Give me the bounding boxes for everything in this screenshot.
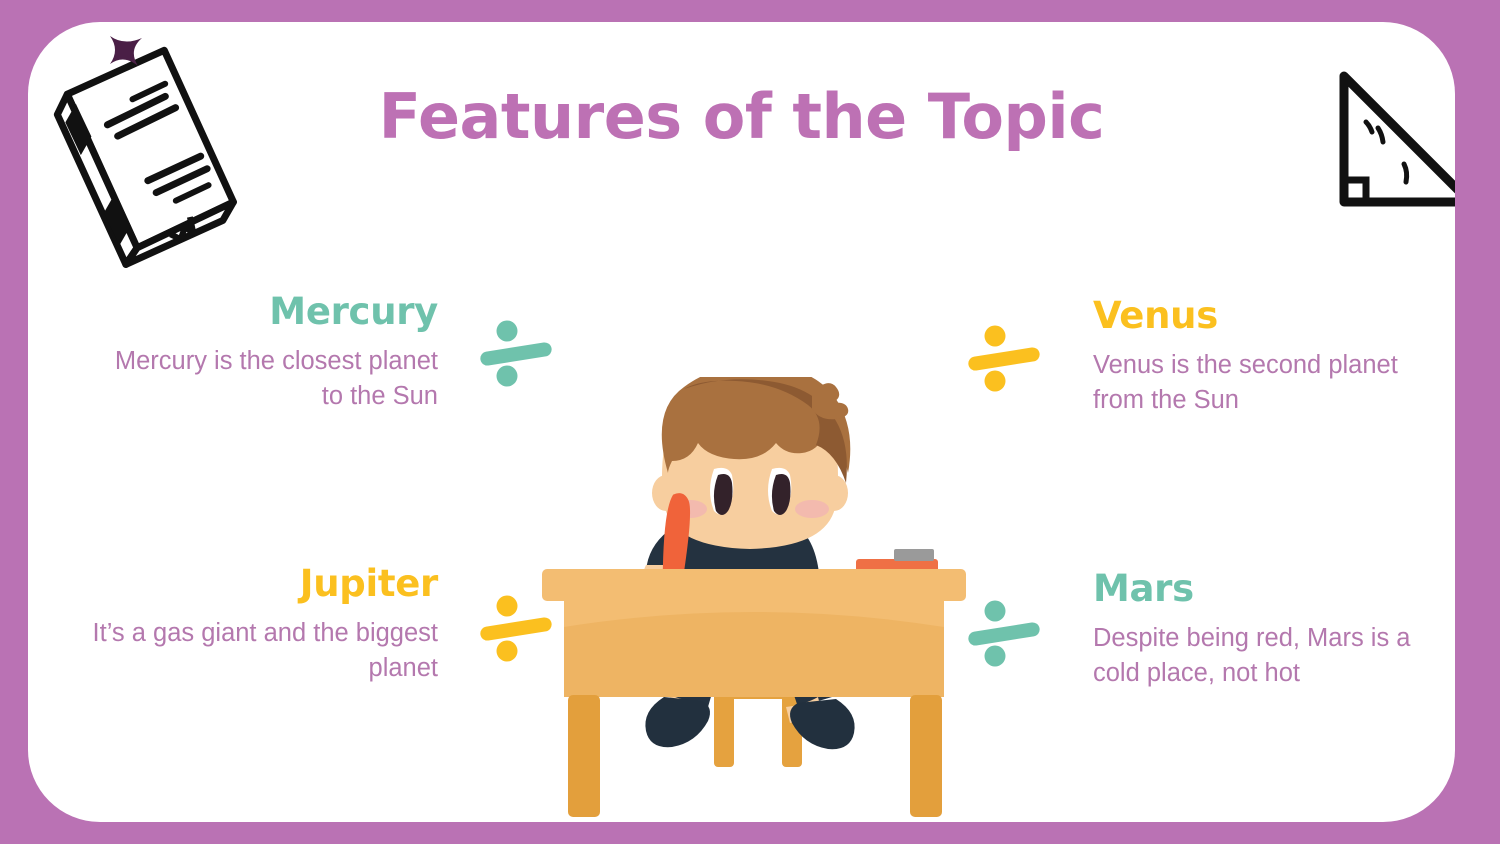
feature-block-mars: Mars Despite being red, Mars is a cold p… [1093, 567, 1443, 691]
feature-heading-venus: Venus [1093, 294, 1443, 338]
slide-canvas: Features of the Topic Mercury Mercury is… [0, 0, 1500, 844]
slide-card: Features of the Topic Mercury Mercury is… [28, 22, 1455, 822]
feature-body-mercury: Mercury is the closest planet to the Sun [88, 344, 438, 414]
boy-studying-at-desk-illustration [518, 377, 998, 822]
x-mark-doodle-icon [98, 22, 154, 78]
feature-heading-mars: Mars [1093, 567, 1443, 611]
feature-block-jupiter: Jupiter It’s a gas giant and the biggest… [88, 562, 438, 686]
feature-block-mercury: Mercury Mercury is the closest planet to… [88, 290, 438, 414]
feature-body-jupiter: It’s a gas giant and the biggest planet [88, 616, 438, 686]
triangle-ruler-doodle-icon [1328, 62, 1455, 217]
desk [542, 569, 966, 817]
feature-heading-jupiter: Jupiter [88, 562, 438, 606]
feature-block-venus: Venus Venus is the second planet from th… [1093, 294, 1443, 418]
feature-body-mars: Despite being red, Mars is a cold place,… [1093, 621, 1443, 691]
feature-body-venus: Venus is the second planet from the Sun [1093, 348, 1443, 418]
feature-heading-mercury: Mercury [88, 290, 438, 334]
